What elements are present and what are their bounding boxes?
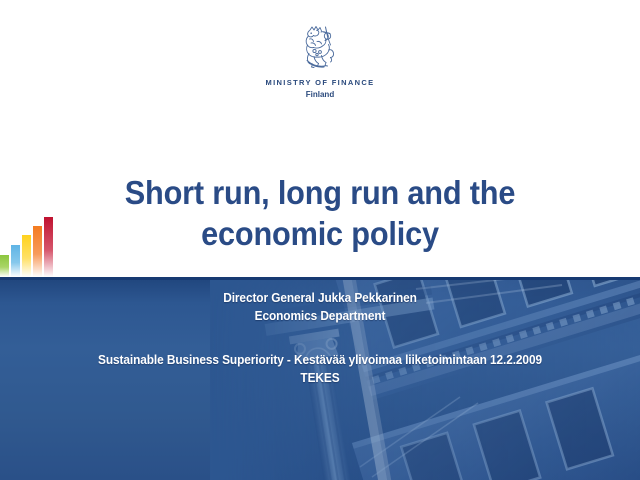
presenter-department: Economics Department: [16, 307, 624, 325]
growth-bar-chart-graphic: [0, 209, 58, 277]
slide-upper-section: MINISTRY OF FINANCE Finland Short run, l…: [0, 0, 640, 277]
slide-title: Short run, long run and the economic pol…: [60, 172, 580, 254]
slide-subtitle-block: Director General Jukka Pekkarinen Econom…: [0, 289, 640, 387]
ministry-logo: MINISTRY OF FINANCE Finland: [0, 24, 640, 100]
decorative-bar-2: [11, 245, 20, 277]
subtitle-spacer: [0, 325, 640, 351]
presenter-name: Director General Jukka Pekkarinen: [16, 289, 624, 307]
decorative-bar-5: [44, 217, 53, 277]
decorative-bar-1: [0, 255, 9, 277]
event-host: TEKES: [16, 369, 624, 387]
decorative-bar-4: [33, 226, 42, 277]
ministry-country: Finland: [0, 89, 640, 100]
event-name-and-date: Sustainable Business Superiority - Kestä…: [16, 351, 624, 369]
title-slide: MINISTRY OF FINANCE Finland Short run, l…: [0, 0, 640, 480]
ministry-wordmark: MINISTRY OF FINANCE: [0, 78, 640, 88]
slide-lower-section: Director General Jukka Pekkarinen Econom…: [0, 277, 640, 480]
decorative-bar-3: [22, 235, 31, 277]
title-line-2: economic policy: [78, 213, 562, 254]
finland-coat-of-arms-lion-icon: [297, 24, 343, 74]
panel-top-rule: [0, 277, 640, 280]
title-line-1: Short run, long run and the: [78, 172, 562, 213]
